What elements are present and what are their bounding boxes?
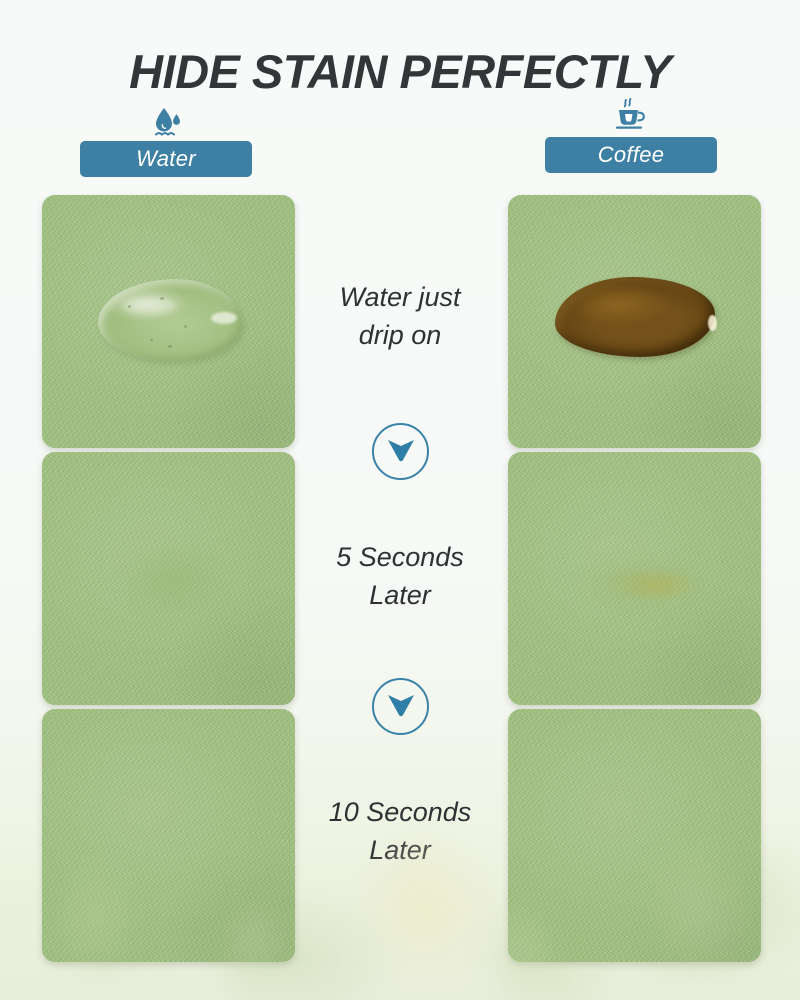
panel-water-stage-2 — [42, 452, 295, 705]
droplet-speck — [160, 297, 164, 300]
badge-coffee-label: Coffee — [598, 142, 665, 168]
panel-coffee-stage-3 — [508, 709, 761, 962]
fabric-texture — [508, 709, 761, 962]
coffee-cup-icon — [545, 100, 717, 134]
column-header-water: Water — [80, 104, 252, 177]
droplet-speck — [128, 305, 131, 308]
stage-label-1-line2: drip on — [295, 316, 505, 354]
droplet-highlight-edge — [211, 312, 237, 324]
droplet-speck — [150, 339, 153, 341]
coffee-spill-stain — [555, 277, 715, 357]
chevron-down-icon — [386, 691, 416, 722]
stage-label-3-line2: Later — [295, 831, 505, 869]
stage-label-2-line2: Later — [295, 576, 505, 614]
panel-water-stage-1 — [42, 195, 295, 448]
stage-label-2: 5 Seconds Later — [295, 538, 505, 615]
water-droplet-stain — [98, 279, 243, 362]
panel-water-stage-3 — [42, 709, 295, 962]
droplet-speck — [184, 325, 187, 328]
chevron-down-icon — [386, 436, 416, 467]
page-title: HIDE STAIN PERFECTLY — [0, 44, 800, 99]
column-header-coffee: Coffee — [545, 100, 717, 173]
stage-label-1: Water just drip on — [295, 278, 505, 355]
badge-water-label: Water — [136, 146, 196, 172]
fabric-texture — [42, 709, 295, 962]
stage-label-1-line1: Water just — [295, 278, 505, 316]
panel-coffee-stage-2 — [508, 452, 761, 705]
badge-coffee[interactable]: Coffee — [545, 137, 717, 173]
infographic-page: HIDE STAIN PERFECTLY Water — [0, 0, 800, 1000]
water-drop-icon — [80, 104, 252, 138]
badge-water[interactable]: Water — [80, 141, 252, 177]
coffee-residue-mark — [556, 540, 721, 622]
stage-label-2-line1: 5 Seconds — [295, 538, 505, 576]
droplet-speck — [168, 345, 172, 348]
panel-coffee-stage-1 — [508, 195, 761, 448]
water-damp-mark — [94, 524, 249, 634]
stage-label-3-line1: 10 Seconds — [295, 793, 505, 831]
arrow-down-2 — [372, 678, 429, 735]
stage-label-3: 10 Seconds Later — [295, 793, 505, 870]
arrow-down-1 — [372, 423, 429, 480]
